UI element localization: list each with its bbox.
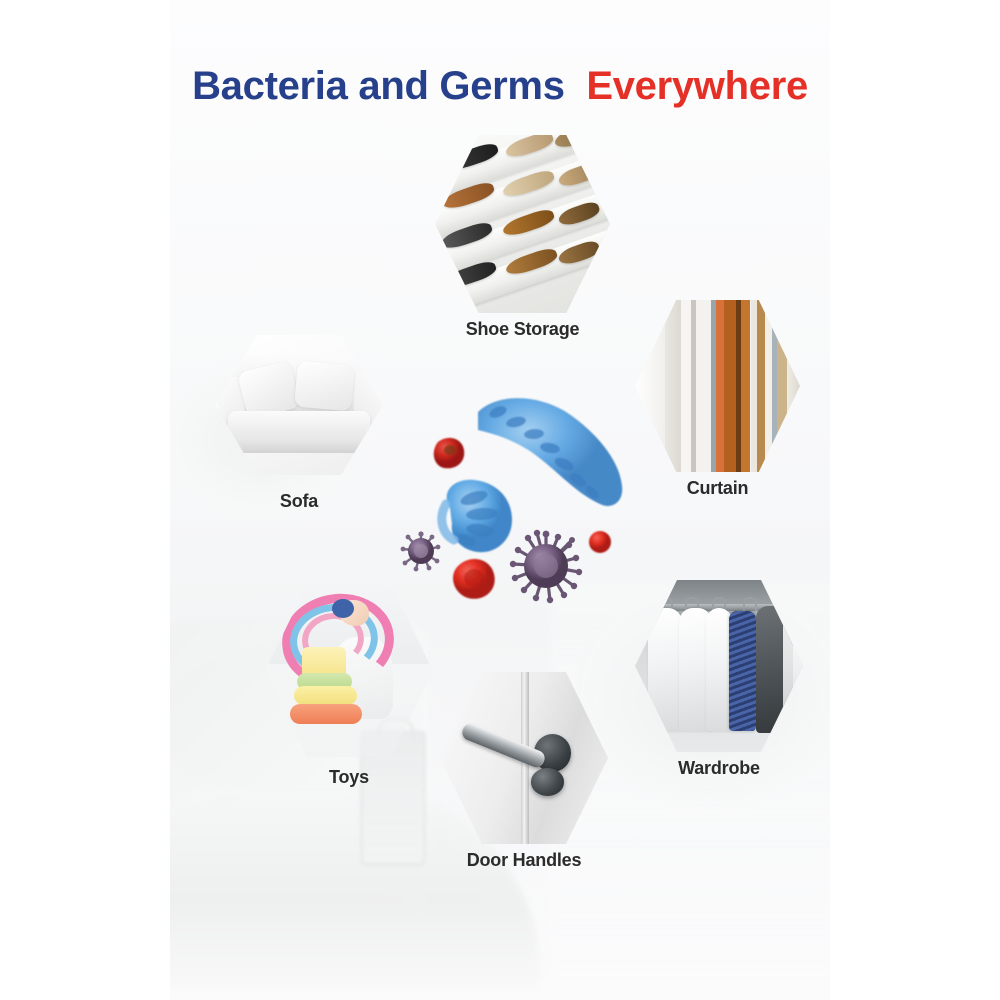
sofa-image [215, 335, 383, 475]
hotspot-label-door-handles: Door Handles [440, 850, 608, 871]
red-cell-top-icon [434, 438, 465, 468]
coiled-bacterium-icon [442, 480, 512, 552]
curtain-image [635, 300, 800, 472]
hotspot-label-curtain: Curtain [635, 478, 800, 499]
title-accent-text: Everywhere [586, 64, 808, 108]
rod-bacillus-icon [478, 398, 622, 506]
red-dot-right-icon [589, 531, 611, 553]
title-primary-text: Bacteria and Germs [192, 64, 565, 108]
hotspot-label-shoe-storage: Shoe Storage [435, 319, 610, 340]
hotspot-curtain[interactable]: Curtain [635, 300, 800, 499]
poster-canvas: Bacteria and Germs Everywhere [170, 0, 830, 1000]
virus-spiky-small-icon [401, 531, 441, 571]
hotspot-label-wardrobe: Wardrobe [635, 758, 803, 779]
bacteria-germs-cluster-icon [392, 390, 624, 622]
hotspot-label-toys: Toys [265, 767, 433, 788]
hotspot-wardrobe[interactable]: Wardrobe [635, 580, 803, 779]
wardrobe-image [635, 580, 803, 752]
hotspot-shoe-storage[interactable]: Shoe Storage [435, 135, 610, 340]
hotspot-label-sofa: Sofa [215, 491, 383, 512]
door-handles-image [440, 672, 608, 844]
hotspot-door-handles[interactable]: Door Handles [440, 672, 608, 871]
hotspot-sofa[interactable]: Sofa [215, 335, 383, 512]
shoe-storage-image [435, 135, 610, 313]
poster-title: Bacteria and Germs Everywhere [170, 66, 830, 106]
virus-spiky-large-icon [510, 530, 582, 603]
red-cell-bottom-icon [453, 559, 495, 599]
